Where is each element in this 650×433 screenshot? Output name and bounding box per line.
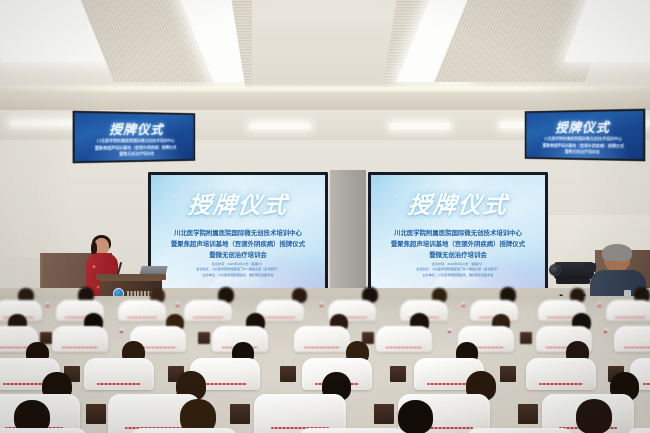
screen-footer: 会议时间：2023年9月23日（星期六） 会议地点：川北医学院附属医院门诊六楼会… <box>385 262 531 280</box>
water-bottle <box>176 302 179 310</box>
screen-subtitle: 川北医学院附属医院国际微无创技术培训中心 暨聚焦超声培训基地（宫颈外阴疾病）授牌… <box>378 228 538 262</box>
seat-tablet-arm <box>280 366 296 382</box>
led-display-right: 授牌仪式 川北医学院附属医院国际微无创技术培训中心 暨聚焦超声培训基地（宫颈外阴… <box>525 109 646 162</box>
screen-subtitle-line-3: 暨微无创治疗培训会 <box>378 250 538 261</box>
seat-tablet-arm <box>86 404 106 424</box>
screen-subtitle-line-2: 暨聚焦超声培训基地（宫颈外阴疾病）授牌仪式 <box>378 239 538 250</box>
projection-screen-right: 授牌仪式 川北医学院附属医院国际微无创技术培训中心 暨聚焦超声培训基地（宫颈外阴… <box>368 172 548 295</box>
seat-tablet-arm <box>374 404 394 424</box>
water-bottle <box>46 302 49 310</box>
seat <box>466 428 574 433</box>
screen-subtitle-line-3: 暨微无创治疗培训会 <box>158 250 318 261</box>
seat-tablet-arm <box>500 366 516 382</box>
screen-subtitle-line-1: 川北医学院附属医院国际微无创技术培训中心 <box>378 228 538 239</box>
seat <box>84 358 154 390</box>
seat <box>118 300 166 321</box>
seat <box>52 326 108 352</box>
attendee-head <box>576 399 612 433</box>
led-title: 授牌仪式 <box>75 118 194 138</box>
seat <box>0 428 88 433</box>
ceiling <box>0 0 650 112</box>
seat <box>294 326 350 352</box>
water-bottle <box>448 328 452 338</box>
led-subtitle: 川北医学院附属医院国际微无创技术培训中心 暨聚焦超声培训基地（宫颈外阴疾病）授牌… <box>531 136 638 157</box>
seat <box>526 358 596 390</box>
water-bottle <box>320 302 323 310</box>
screen-footer: 会议时间：2023年9月23日（星期六） 会议地点：川北医学院附属医院门诊六楼会… <box>165 262 311 280</box>
screen-subtitle: 川北医学院附属医院国际微无创技术培训中心 暨聚焦超声培训基地（宫颈外阴疾病）授牌… <box>158 228 318 262</box>
seat <box>130 428 238 433</box>
seat-tablet-arm <box>198 332 210 344</box>
screen-footer-line-3: 主办单位：川北医学院附属医院、国际微无创医学会 <box>165 273 311 279</box>
seat-tablet-arm <box>518 404 538 424</box>
cove-light <box>0 86 650 91</box>
led-display-left: 授牌仪式 川北医学院附属医院国际微无创技术培训中心 暨聚焦超声培训基地（宫颈外阴… <box>73 111 196 164</box>
seat <box>614 326 650 352</box>
water-bottle <box>462 302 465 310</box>
linear-light <box>10 120 76 126</box>
screen-subtitle-line-1: 川北医学院附属医院国际微无创技术培训中心 <box>158 228 318 239</box>
water-bottle <box>120 328 124 338</box>
audience-seating <box>0 296 650 433</box>
ceiling-soffit <box>0 88 650 112</box>
camera-lens-icon <box>549 264 561 276</box>
seat <box>298 428 406 433</box>
led-subtitle: 川北医学院附属医院国际微无创技术培训中心 暨聚焦超声培训基地（宫颈外阴疾病）授牌… <box>80 138 189 159</box>
seat <box>376 326 432 352</box>
screen-title: 授牌仪式 <box>370 194 546 217</box>
water-bottle <box>604 328 608 338</box>
attendee-head <box>398 400 433 433</box>
screen-subtitle-line-2: 暨聚焦超声培训基地（宫颈外阴疾病）授牌仪式 <box>158 239 318 250</box>
video-camera <box>554 262 594 279</box>
seat-tablet-arm <box>390 366 406 382</box>
seat-tablet-arm <box>520 332 532 344</box>
linear-light <box>250 123 310 129</box>
led-title: 授牌仪式 <box>526 116 643 136</box>
seat <box>184 300 232 321</box>
linear-light <box>390 123 450 129</box>
seat <box>606 300 650 321</box>
screen-footer-line-3: 主办单位：川北医学院附属医院、国际微无创医学会 <box>385 273 531 279</box>
screen-title: 授牌仪式 <box>150 194 326 217</box>
water-bottle <box>598 302 601 310</box>
conference-hall-photo: 授牌仪式 川北医学院附属医院国际微无创技术培训中心 暨聚焦超声培训基地（宫颈外阴… <box>0 0 650 433</box>
projection-screen-left: 授牌仪式 川北医学院附属医院国际微无创技术培训中心 暨聚焦超声培训基地（宫颈外阴… <box>148 172 328 295</box>
videographer-hair <box>602 244 632 261</box>
seat-tablet-arm <box>230 404 250 424</box>
